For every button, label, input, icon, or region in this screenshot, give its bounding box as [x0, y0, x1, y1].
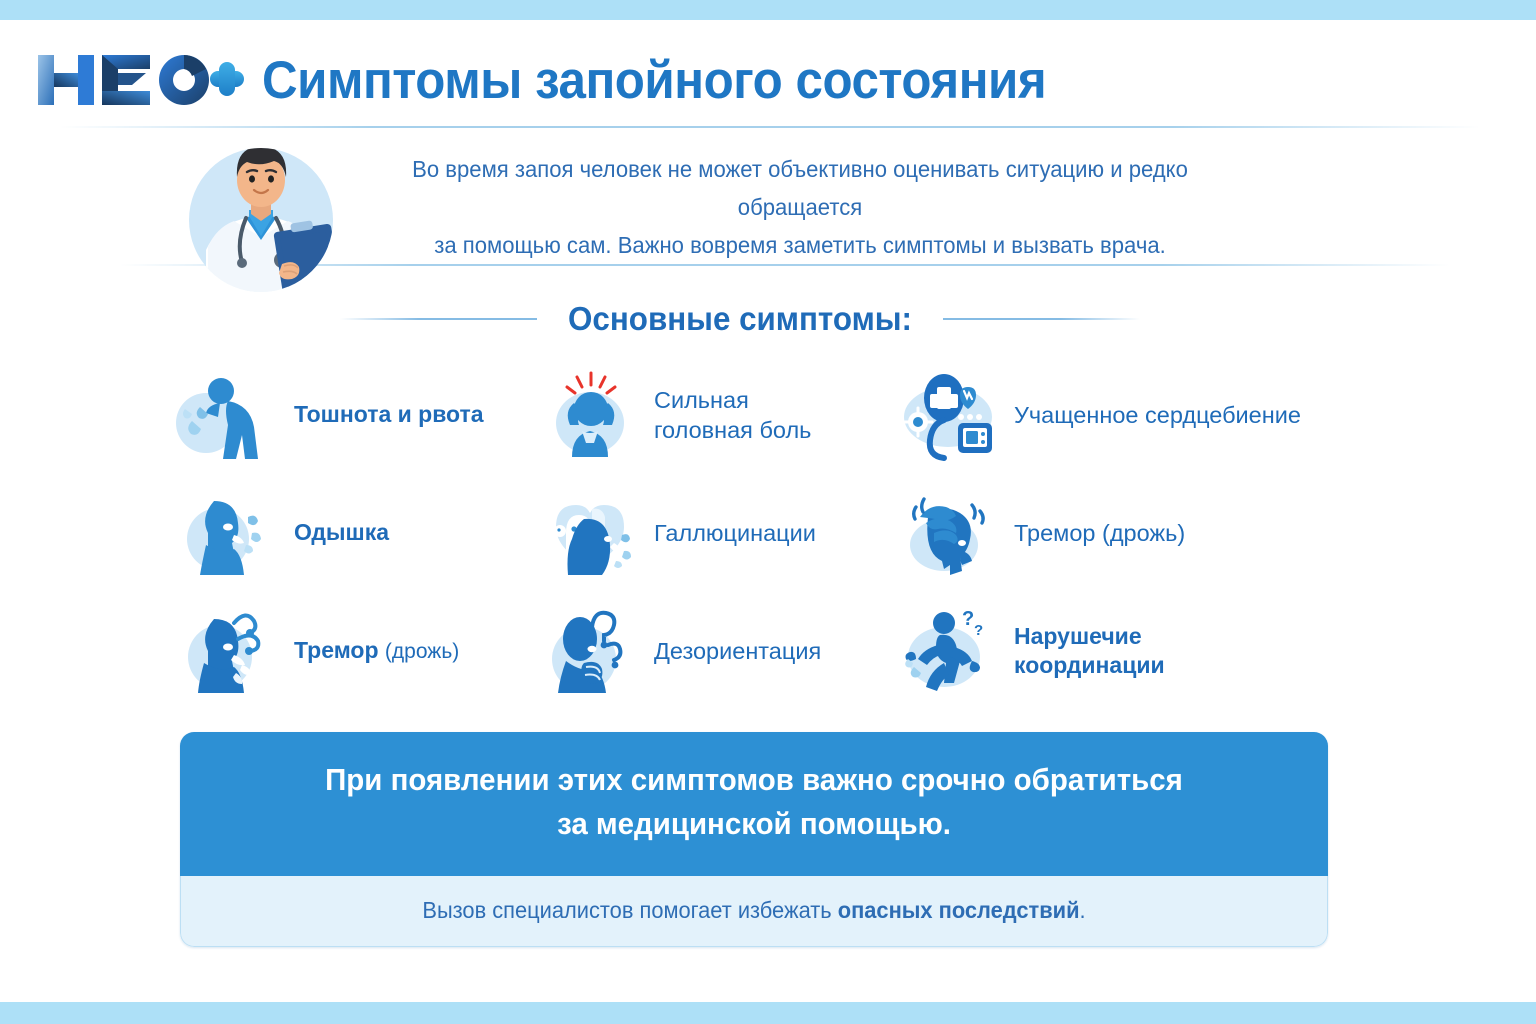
shortness-of-breath-icon: [176, 483, 284, 583]
intro-line-1: Во время запоя человек не может объектив…: [349, 150, 1251, 226]
symptom-label-primary: Сильная: [654, 385, 811, 415]
header-divider: [60, 126, 1480, 128]
symptom-label: Тошнота и рвота: [294, 400, 484, 429]
symptom-label-primary: Галлюцинации: [654, 520, 816, 546]
callout-main-line-2: за медицинской помощью.: [247, 802, 1262, 846]
infographic-page: Симптомы запойного состояния: [0, 20, 1536, 1002]
symptom-item: Сильная головная боль: [536, 356, 896, 474]
neo-plus-logo: [34, 47, 246, 113]
symptom-label-primary: Нарушечие: [1014, 622, 1165, 651]
top-decorative-band: [0, 0, 1536, 20]
callout-sub-line: Вызов специалистов помогает избежать опа…: [248, 894, 1261, 926]
symptom-grid: Тошнота и рвота: [176, 356, 1356, 710]
symptom-label: Нарушечие координации: [1014, 622, 1165, 681]
headache-person-icon: [536, 365, 644, 465]
symptom-label: Дезориентация: [654, 636, 821, 666]
intro-line-2: за помощью сам. Важно вовремя заметить с…: [349, 226, 1251, 264]
page-title: Симптомы запойного состояния: [262, 50, 1046, 111]
disorientation-person-icon: [536, 601, 644, 701]
symptom-label: Тремор (дрожь): [294, 636, 459, 666]
tremor-head-hands-icon: [896, 483, 1004, 583]
callout-sub-suffix: .: [1080, 897, 1086, 923]
warning-callout: При появлении этих симптомов важно срочн…: [180, 732, 1328, 947]
callout-primary-message: При появлении этих симптомов важно срочн…: [180, 732, 1328, 876]
section-rule-left: [340, 318, 537, 320]
symptom-label-primary: Одышка: [294, 519, 389, 545]
symptom-label: Учащенное сердцебиение: [1014, 400, 1301, 430]
symptom-item: Тремор (дрожь): [176, 592, 536, 710]
symptom-label-primary: Учащенное сердцебиение: [1014, 402, 1301, 428]
symptom-item: ? ? Нарушечие координации: [896, 592, 1336, 710]
symptom-label: Сильная головная боль: [654, 385, 811, 445]
callout-sub-prefix: Вызов специалистов помогает избежать: [422, 897, 837, 923]
symptom-label: Тремор (дрожь): [1014, 518, 1185, 548]
coordination-loss-walking-icon: ? ?: [896, 601, 1004, 701]
callout-secondary-message: Вызов специалистов помогает избежать опа…: [180, 876, 1328, 947]
svg-text:?: ?: [974, 622, 983, 639]
section-rule-right: [943, 318, 1140, 320]
symptom-label-secondary: головная боль: [654, 415, 811, 445]
hallucination-ghost-icon: [536, 483, 644, 583]
section-title: Основные симптомы:: [568, 300, 912, 338]
symptom-item: Тошнота и рвота: [176, 356, 536, 474]
vomiting-person-icon: [176, 365, 284, 465]
symptom-label-primary: Тремор: [294, 637, 379, 663]
symptom-label-primary: Тошнота и рвота: [294, 401, 484, 427]
symptom-label-primary: Дезориентация: [654, 638, 821, 664]
symptom-item: Одышка: [176, 474, 536, 592]
symptom-item: Учащенное сердцебиение: [896, 356, 1336, 474]
symptom-label-primary: Тремор (дрожь): [1014, 520, 1185, 546]
page-header: Симптомы запойного состояния: [0, 34, 1536, 126]
intro-paragraph: Во время запоя человек не может объектив…: [349, 150, 1251, 264]
section-heading: Основные симптомы:: [340, 292, 1140, 346]
callout-main-line-1: При появлении этих симптомов важно срочн…: [247, 758, 1262, 802]
sweating-person-icon: [176, 601, 284, 701]
symptom-label: Одышка: [294, 518, 389, 547]
svg-text:?: ?: [962, 608, 974, 630]
symptom-item: Дезориентация: [536, 592, 896, 710]
symptom-label-secondary: (дрожь): [385, 640, 459, 663]
bottom-decorative-band: [0, 1002, 1536, 1024]
symptom-label: Галлюцинации: [654, 518, 816, 548]
callout-sub-emphasis: опасных последствий: [838, 897, 1080, 923]
symptom-item: Тремор (дрожь): [896, 474, 1336, 592]
symptom-label-secondary: координации: [1014, 651, 1165, 680]
symptom-item: Галлюцинации: [536, 474, 896, 592]
blood-pressure-monitor-icon: [896, 365, 1004, 465]
doctor-illustration: [176, 132, 346, 302]
